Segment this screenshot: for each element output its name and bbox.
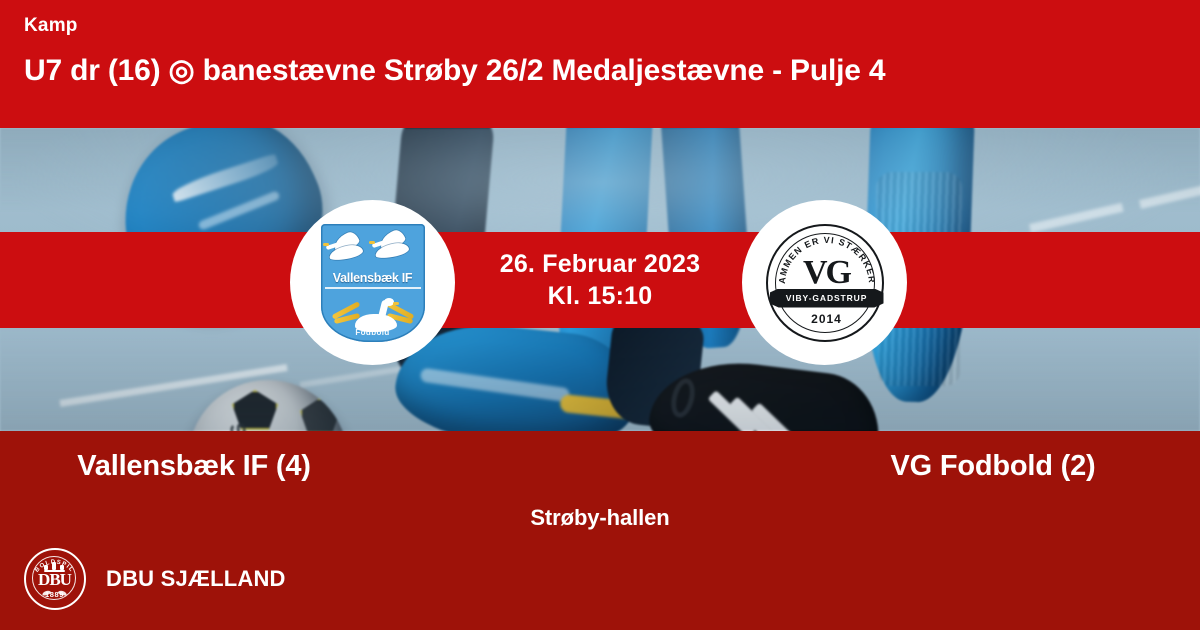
footer-label: DBU SJÆLLAND bbox=[106, 566, 286, 592]
swan-beak-icon bbox=[369, 241, 375, 244]
home-team-name: Vallensbæk IF (4) bbox=[0, 450, 600, 483]
swan-beak-icon bbox=[393, 302, 399, 306]
header-kicker: Kamp bbox=[24, 14, 1200, 38]
swan-head-icon bbox=[384, 298, 394, 306]
team-names-row: Vallensbæk IF (4) VG Fodbold (2) bbox=[0, 441, 1200, 491]
crest-subtext: Fodbold bbox=[321, 328, 425, 337]
viby-gadstrup-badge: SAMMEN ER VI STÆRKERE VG VIBY-GADSTRUP 2… bbox=[766, 224, 884, 342]
footer: BOLDSPIL DBU 1889 DBU SJÆLLAND bbox=[24, 548, 286, 610]
away-team-name: VG Fodbold (2) bbox=[600, 450, 1200, 483]
venue-name: Strøby-hallen bbox=[0, 505, 1200, 531]
crown-icon bbox=[44, 562, 65, 570]
match-date-banner bbox=[0, 232, 1200, 328]
badge-banner-text: VIBY-GADSTRUP bbox=[786, 293, 868, 303]
dbu-monogram: DBU bbox=[26, 571, 83, 588]
match-poster: Kamp U7 dr (16) ◎ banestævne Strøby 26/2… bbox=[0, 0, 1200, 630]
badge-founded-year: 2014 bbox=[768, 312, 886, 326]
swan-beak-icon bbox=[323, 243, 329, 246]
dbu-logo: BOLDSPIL DBU 1889 bbox=[24, 548, 86, 610]
crest-divider bbox=[325, 287, 421, 289]
away-team-crest[interactable]: SAMMEN ER VI STÆRKERE VG VIBY-GADSTRUP 2… bbox=[742, 200, 907, 365]
dbu-founded-year: 1889 bbox=[26, 590, 83, 599]
crest-wordmark-text: Vallensbæk IF bbox=[333, 271, 412, 285]
crest-wordmark: Vallensbæk IF bbox=[321, 270, 425, 286]
vallensbaek-if-crest: Vallensbæk IF Fodbold bbox=[321, 224, 425, 342]
home-team-crest[interactable]: Vallensbæk IF Fodbold bbox=[290, 200, 455, 365]
page-title: U7 dr (16) ◎ banestævne Strøby 26/2 Meda… bbox=[24, 48, 1200, 94]
badge-banner: VIBY-GADSTRUP bbox=[770, 289, 884, 308]
header-band: Kamp U7 dr (16) ◎ banestævne Strøby 26/2… bbox=[0, 0, 1200, 128]
badge-monogram: VG bbox=[768, 256, 886, 290]
